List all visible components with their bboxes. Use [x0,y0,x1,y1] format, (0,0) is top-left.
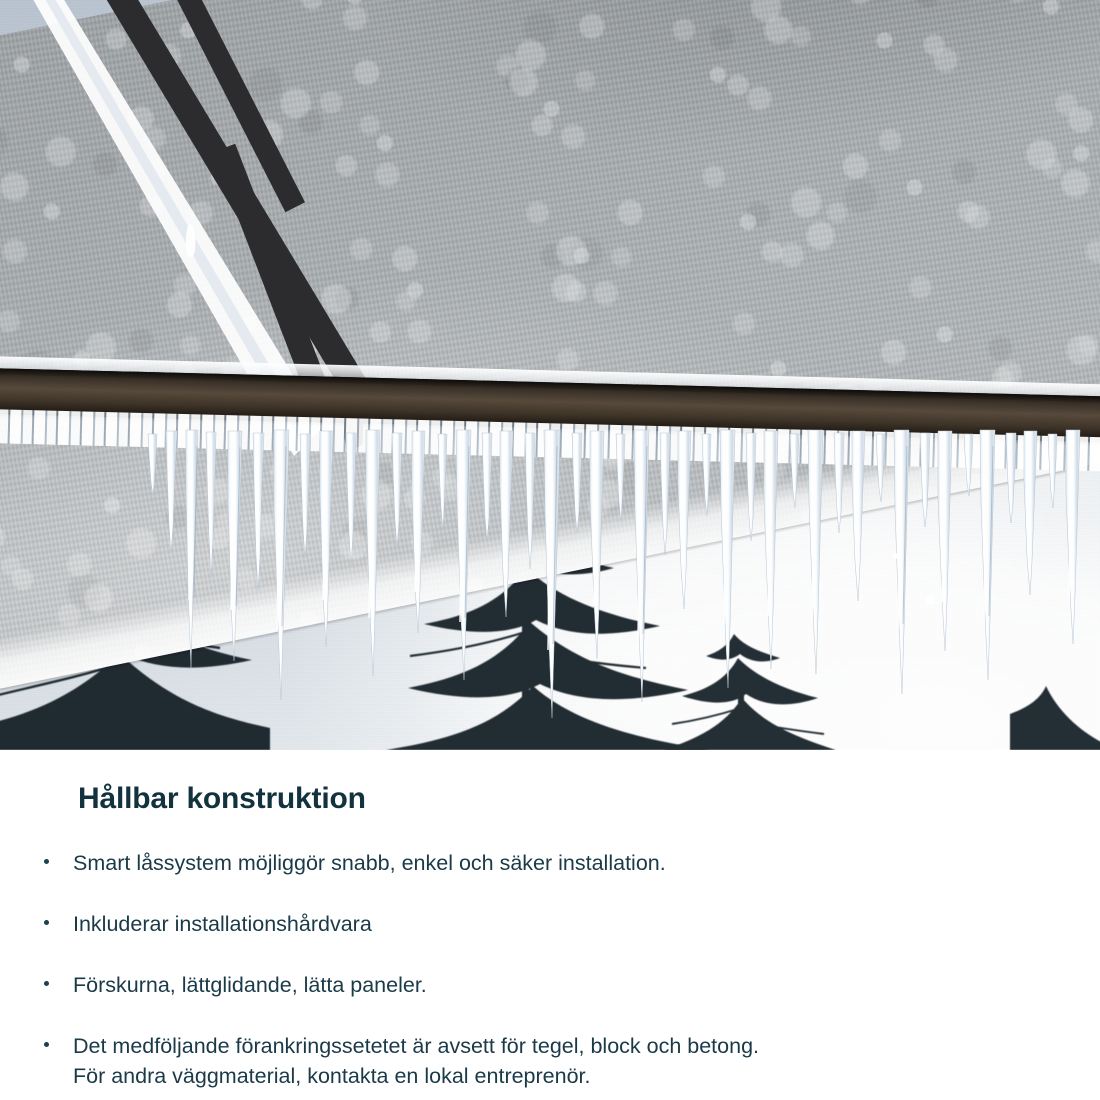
list-item: Det medföljande förankringssetetet är av… [0,1031,1100,1091]
feature-text-panel: Hållbar konstruktion Smart låssystem möj… [0,750,1100,1100]
list-item-label: Inkluderar installationshårdvara [73,909,372,939]
list-item: Inkluderar installationshårdvara [0,909,1100,939]
product-feature-card: Hållbar konstruktion Smart låssystem möj… [0,0,1100,1100]
page-title: Hållbar konstruktion [78,782,366,816]
list-item-label: Smart låssystem möjliggör snabb, enkel o… [73,848,666,878]
list-item: Förskurna, lättglidande, lätta paneler. [0,970,1100,1000]
bullet-dot-icon [44,920,49,925]
bullet-dot-icon [44,981,49,986]
list-item-label: Det medföljande förankringssetetet är av… [73,1031,759,1091]
feature-bullet-list: Smart låssystem möjliggör snabb, enkel o… [0,848,1100,1091]
product-photo [0,0,1100,750]
bullet-dot-icon [44,859,49,864]
list-item-label: Förskurna, lättglidande, lätta paneler. [73,970,427,1000]
bullet-dot-icon [44,1042,49,1047]
list-item: Smart låssystem möjliggör snabb, enkel o… [0,848,1100,878]
icicle-row [0,0,1100,750]
